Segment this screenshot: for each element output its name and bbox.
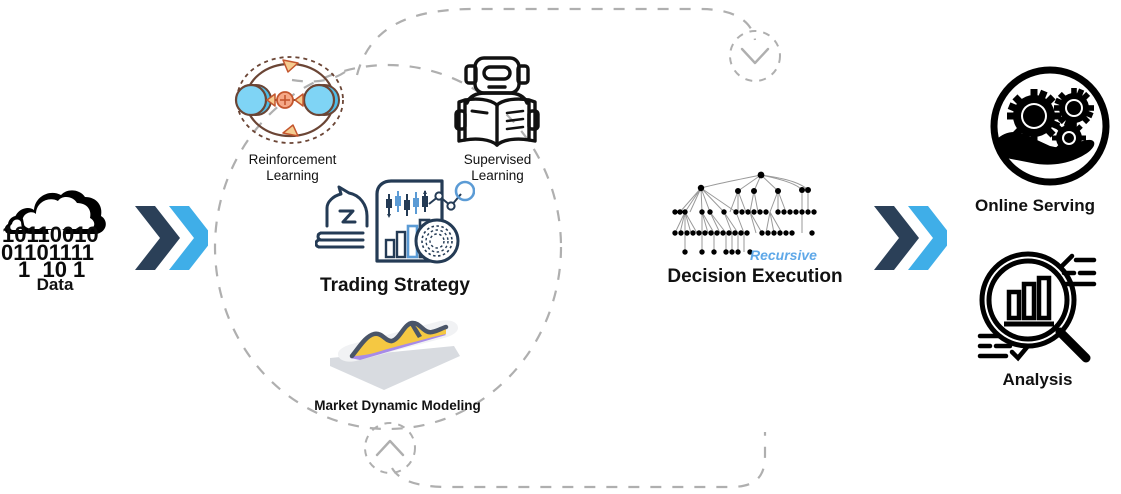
chevron-up-marker-ring xyxy=(365,423,415,473)
double-chevron-arrow-2[interactable] xyxy=(872,202,947,274)
trading-strategy-label: Trading Strategy xyxy=(300,275,490,297)
dashed-feedback-path-bottom xyxy=(392,432,765,487)
trading-strategy-icon xyxy=(315,178,475,272)
robot-reading-book-icon xyxy=(450,53,548,151)
diagram-canvas: 10110010 01101111 1 10 1 Data Reinforcem… xyxy=(0,0,1121,494)
decision-execution-label: Decision Execution xyxy=(655,266,855,288)
chevron-down-marker-ring xyxy=(730,31,780,81)
analysis-label: Analysis xyxy=(965,370,1110,390)
magnifier-barchart-icon xyxy=(976,248,1100,366)
chevron-up-icon xyxy=(377,441,403,455)
market-dynamic-modeling-label: Market Dynamic Modeling xyxy=(295,398,500,414)
online-serving-label: Online Serving xyxy=(950,196,1120,216)
market-dynamic-modeling-icon xyxy=(322,310,464,394)
recursive-annotation: Recursive xyxy=(750,247,840,264)
dashed-feedback-path-top xyxy=(357,9,755,75)
reinforcement-learning-icon xyxy=(230,48,350,152)
hand-gears-icon xyxy=(988,64,1112,188)
chevron-down-icon xyxy=(742,49,768,63)
double-chevron-arrow-1[interactable] xyxy=(133,202,208,274)
data-label: Data xyxy=(5,275,105,295)
